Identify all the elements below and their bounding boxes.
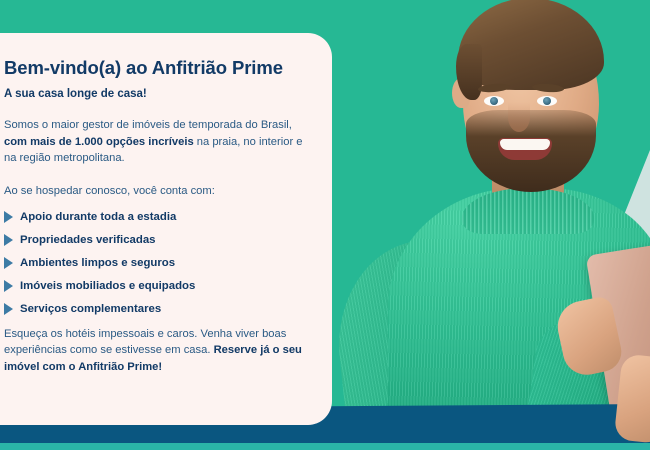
page-title: Bem-vindo(a) ao Anfitrião Prime (4, 57, 306, 79)
teeth (500, 139, 550, 150)
intro-paragraph-highlight: com mais de 1.000 opções incríveis (4, 136, 194, 148)
intro-paragraph: Somos o maior gestor de imóveis de tempo… (4, 117, 306, 167)
eye-right (537, 96, 557, 106)
triangle-bullet-icon (4, 211, 13, 223)
list-item-label: Apoio durante toda a estadia (20, 211, 176, 223)
triangle-bullet-icon (4, 303, 13, 315)
card-subtitle: A sua casa longe de casa! (4, 88, 306, 100)
closing-paragraph: Esqueça os hotéis impessoais e caros. Ve… (4, 326, 306, 376)
bottom-teal-strip (0, 443, 650, 450)
list-item: Apoio durante toda a estadia (4, 211, 306, 223)
list-item-label: Imóveis mobiliados e equipados (20, 280, 195, 292)
benefits-lead-in: Ao se hospedar conosco, você conta com: (4, 183, 306, 199)
nose (508, 102, 530, 132)
list-item: Ambientes limpos e seguros (4, 257, 306, 269)
triangle-bullet-icon (4, 257, 13, 269)
list-item-label: Ambientes limpos e seguros (20, 257, 175, 269)
triangle-bullet-icon (4, 234, 13, 246)
list-item-label: Propriedades verificadas (20, 234, 156, 246)
list-item-label: Serviços complementares (20, 303, 161, 315)
welcome-card: Bem-vindo(a) ao Anfitrião Prime A sua ca… (0, 33, 332, 425)
intro-paragraph-part1: Somos o maior gestor de imóveis de tempo… (4, 119, 292, 131)
list-item: Imóveis mobiliados e equipados (4, 280, 306, 292)
eye-left (484, 96, 504, 106)
benefits-list: Apoio durante toda a estadia Propriedade… (4, 211, 306, 315)
triangle-bullet-icon (4, 280, 13, 292)
mouth (498, 138, 552, 160)
list-item: Serviços complementares (4, 303, 306, 315)
list-item: Propriedades verificadas (4, 234, 306, 246)
